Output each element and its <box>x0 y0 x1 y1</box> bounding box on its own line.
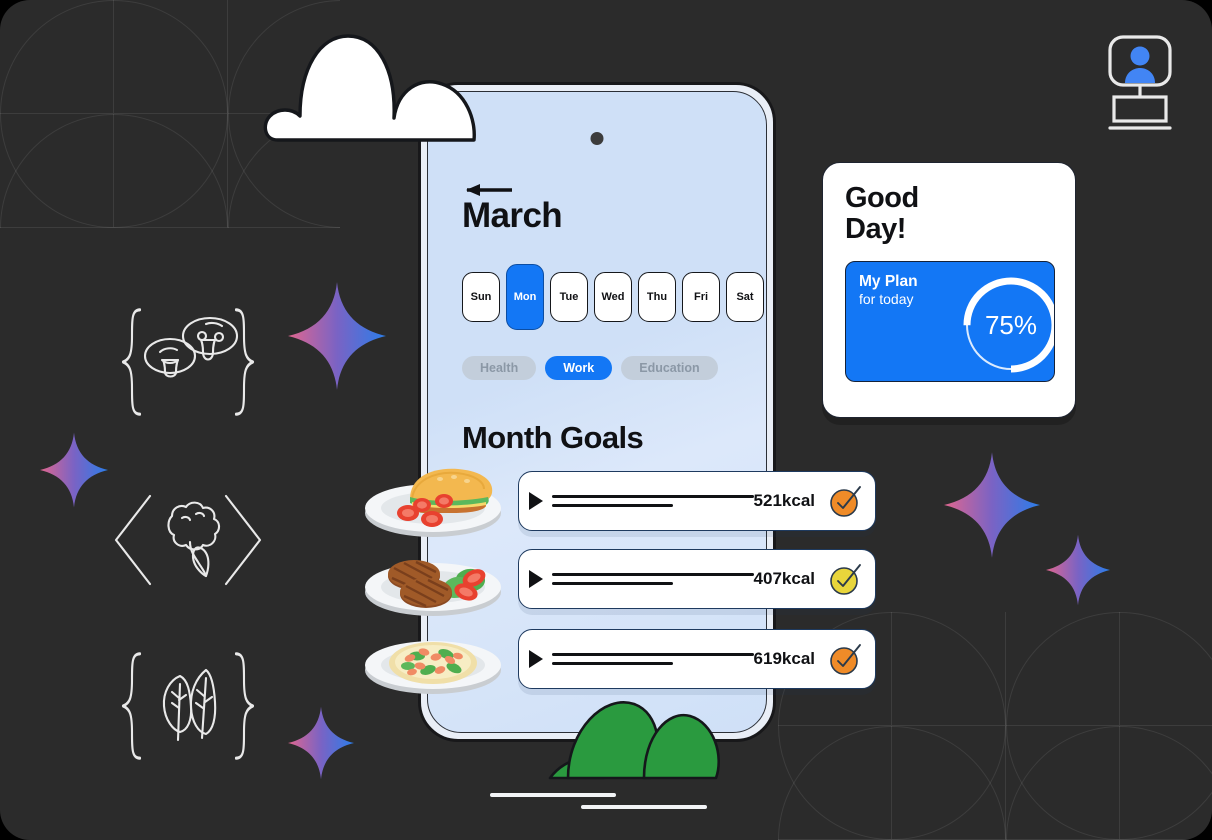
tab-health[interactable]: Health <box>462 356 536 380</box>
goal-row[interactable]: 619kcal <box>518 629 876 689</box>
goal-kcal-value: 521kcal <box>754 491 815 511</box>
check-circle-icon[interactable] <box>829 484 863 518</box>
day-pill-fri[interactable]: Fri <box>682 272 720 322</box>
spinach-leaves-icon <box>118 640 258 777</box>
monitor-user-icon[interactable] <box>1103 35 1177 135</box>
page-title: March <box>462 196 562 236</box>
tab-work[interactable]: Work <box>545 356 612 380</box>
decorative-line <box>581 805 707 809</box>
my-plan-panel[interactable]: My Plan for today 75% <box>845 261 1055 382</box>
front-camera-dot-icon <box>591 132 604 145</box>
category-tabs[interactable]: Health Work Education <box>462 356 718 380</box>
day-pill-mon[interactable]: Mon <box>506 264 544 330</box>
plan-label: My Plan for today <box>859 273 918 308</box>
pizza-plate-icon <box>362 626 504 703</box>
poster-canvas: March Sun Mon Tue Wed Thu Fri Sat Health… <box>0 0 1212 840</box>
tab-education[interactable]: Education <box>621 356 717 380</box>
decorative-line <box>490 793 616 797</box>
check-circle-icon[interactable] <box>829 562 863 596</box>
good-day-card: Good Day! My Plan for today 75% <box>822 162 1076 418</box>
plan-title: My Plan <box>859 273 918 291</box>
day-pill-sat[interactable]: Sat <box>726 272 764 322</box>
card-title-line2: Day! <box>845 214 1053 245</box>
bush-leaves-icon <box>548 690 744 791</box>
sparkle-icon <box>944 452 1040 563</box>
sparkle-icon <box>288 282 386 395</box>
play-triangle-icon[interactable] <box>529 492 543 510</box>
progress-ring: 75% <box>956 270 1055 380</box>
sparkle-icon <box>288 706 354 785</box>
steak-salad-plate-icon <box>362 548 504 625</box>
day-selector[interactable]: Sun Mon Tue Wed Thu Fri Sat <box>462 264 764 330</box>
section-title-month-goals: Month Goals <box>462 420 643 456</box>
card-title-line1: Good <box>845 183 1053 214</box>
card-title: Good Day! <box>845 183 1053 245</box>
sparkle-icon <box>40 432 108 513</box>
day-pill-thu[interactable]: Thu <box>638 272 676 322</box>
mushrooms-icon <box>118 296 258 433</box>
goal-row[interactable]: 407kcal <box>518 549 876 609</box>
day-pill-tue[interactable]: Tue <box>550 272 588 322</box>
day-pill-sun[interactable]: Sun <box>462 272 500 322</box>
goal-row[interactable]: 521kcal <box>518 471 876 531</box>
sparkle-icon <box>1046 534 1110 611</box>
sandwich-plate-icon <box>362 455 504 546</box>
goal-kcal-value: 407kcal <box>754 569 815 589</box>
day-pill-wed[interactable]: Wed <box>594 272 632 322</box>
check-circle-icon[interactable] <box>829 642 863 676</box>
cloud-icon <box>262 28 492 153</box>
plan-subtitle: for today <box>859 291 918 308</box>
goal-text-placeholder <box>552 653 754 665</box>
progress-value: 75% <box>956 270 1055 380</box>
play-triangle-icon[interactable] <box>529 650 543 668</box>
goal-kcal-value: 619kcal <box>754 649 815 669</box>
goal-text-placeholder <box>552 495 754 507</box>
broccoli-icon <box>110 492 266 593</box>
play-triangle-icon[interactable] <box>529 570 543 588</box>
goal-text-placeholder <box>552 573 754 585</box>
